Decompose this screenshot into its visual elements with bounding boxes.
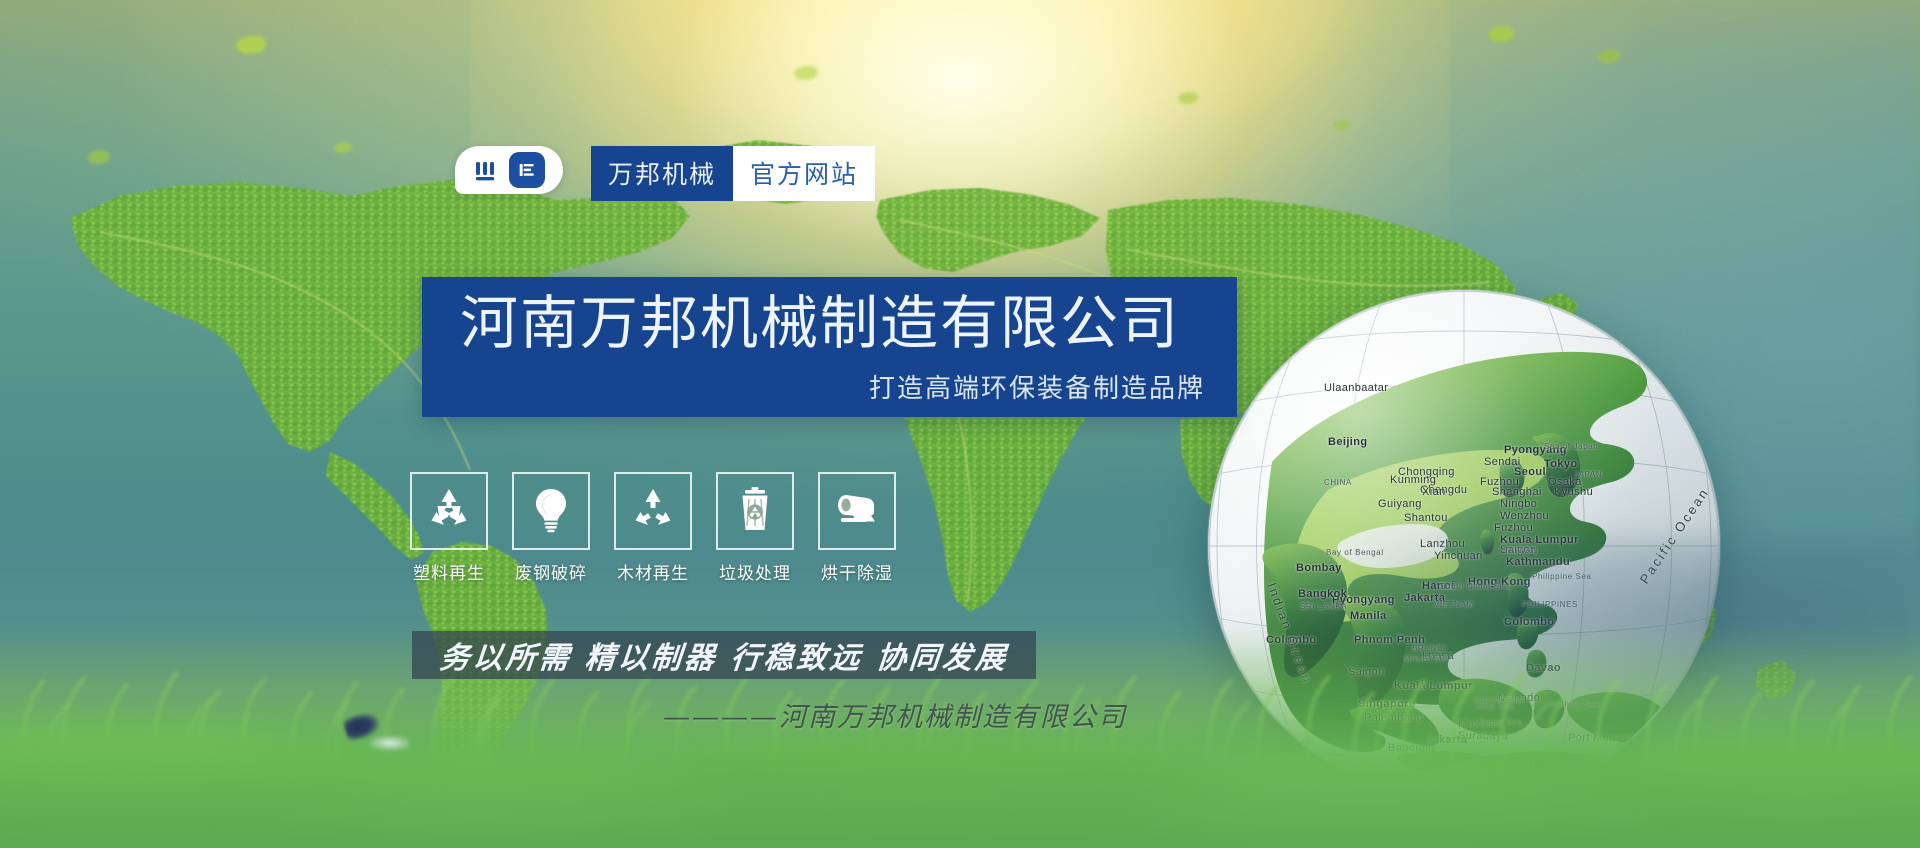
feature-label: 废钢破碎 <box>515 559 587 584</box>
icon-box <box>512 472 590 550</box>
icon-box <box>818 472 896 550</box>
page-title: 河南万邦机械制造有限公司 <box>460 294 1180 352</box>
logo-w-glyph-icon <box>473 155 503 185</box>
slogan-text: 务以所需 精以制器 行稳致远 协同发展 <box>438 633 1010 677</box>
icon-box <box>614 472 692 550</box>
header-logo-row: 万邦机械 官方网站 <box>455 146 875 201</box>
feature-item-wood-recycling[interactable]: 木材再生 <box>614 472 692 584</box>
logo-e-glyph-icon <box>509 152 545 188</box>
recycle-icon <box>425 485 473 538</box>
feature-icon-row: 塑料再生 废钢破碎 <box>410 472 896 584</box>
official-site-tag[interactable]: 官方网站 <box>733 146 875 201</box>
icon-box <box>716 472 794 550</box>
feature-label: 塑料再生 <box>413 559 485 584</box>
feature-item-drying-dehumidification[interactable]: 烘干除湿 <box>818 472 896 584</box>
blower-dryer-icon <box>833 485 881 538</box>
feature-label: 烘干除湿 <box>821 559 893 584</box>
trash-bin-icon <box>731 485 779 538</box>
lightbulb-icon <box>527 485 575 538</box>
recycle-icon <box>629 485 677 538</box>
slogan-band: 务以所需 精以制器 行稳致远 协同发展 <box>412 631 1036 679</box>
banner-subtitle: 打造高端环保装备制造品牌 <box>869 368 1205 405</box>
banner-scene: Ulaanbaatar Beijing Sendai Tokyo Seoul P… <box>0 0 1920 848</box>
main-banner: 河南万邦机械制造有限公司 打造高端环保装备制造品牌 <box>422 277 1237 417</box>
brand-tag[interactable]: 万邦机械 <box>591 146 733 201</box>
slogan-attribution: ————河南万邦机械制造有限公司 <box>660 695 1130 734</box>
icon-box <box>410 472 488 550</box>
feature-item-plastic-recycling[interactable]: 塑料再生 <box>410 472 488 584</box>
feature-label: 垃圾处理 <box>719 559 791 584</box>
globe-graphic: Ulaanbaatar Beijing Sendai Tokyo Seoul P… <box>1208 290 1720 802</box>
company-logo[interactable] <box>455 146 563 194</box>
feature-label: 木材再生 <box>617 559 689 584</box>
feature-item-waste-treatment[interactable]: 垃圾处理 <box>716 472 794 584</box>
feature-item-scrap-steel-crushing[interactable]: 废钢破碎 <box>512 472 590 584</box>
